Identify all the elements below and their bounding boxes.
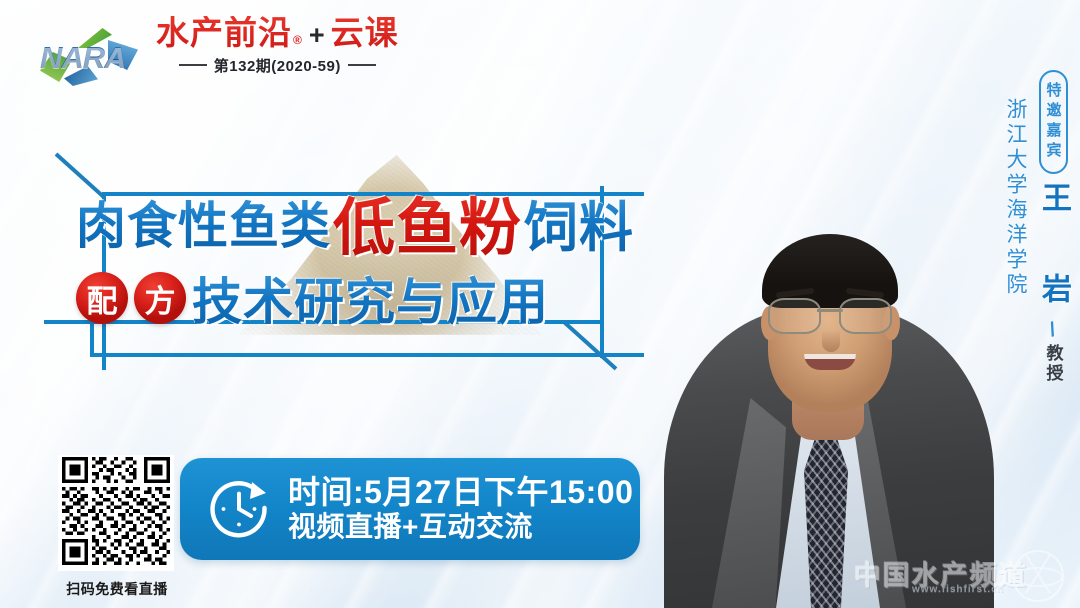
portrait-necktie <box>804 432 848 608</box>
series-title-plus: + <box>309 21 326 49</box>
guest-role: 教授 <box>1041 344 1066 384</box>
guest-name: 王 岩 <box>1031 182 1075 317</box>
headline-badge-2: 方 <box>134 272 186 324</box>
series-title-part2: 云课 <box>331 16 399 51</box>
glasses-lens-right <box>839 298 892 334</box>
headline-badge-1: 配 <box>76 272 128 324</box>
headline-part-1: 肉食性鱼类 <box>76 186 331 258</box>
frame-line-bottom-secondary <box>90 353 644 357</box>
series-title: 水产前沿 ® + 云课 <box>156 16 399 51</box>
clock-refresh-icon <box>206 476 272 542</box>
guest-info: 浙江大学海洋学院 特邀嘉宾 王 岩 / 教授 <box>1000 70 1072 384</box>
schedule-format: 视频直播+互动交流 <box>288 510 633 543</box>
globe-icon <box>1012 550 1064 602</box>
portrait-mouth <box>804 354 856 370</box>
registered-mark: ® <box>293 34 303 47</box>
headline-part-2-emphasis: 低鱼粉 <box>333 177 522 267</box>
headline-line2-text: 技术研究与应用 <box>192 262 549 334</box>
channel-watermark: 中国水产频道 www.fishfirst.cn <box>854 550 1066 600</box>
nara-logo: NARA <box>34 28 140 86</box>
series-title-part1: 水产前沿 <box>156 16 292 51</box>
series-title-block: 水产前沿 ® + 云课 第132期(2020-59) <box>156 16 399 76</box>
dash-right <box>348 64 376 66</box>
guest-affiliation: 浙江大学海洋学院 <box>1000 98 1030 298</box>
qr-caption: 扫码免费看直播 <box>58 579 176 599</box>
schedule-banner: 时间:5月27日下午15:00 视频直播+互动交流 <box>180 458 640 560</box>
globe-equator <box>1013 567 1063 587</box>
promo-poster: NARA 水产前沿 ® + 云课 第132期(2020-59) <box>0 0 1080 608</box>
qr-block: 扫码免费看直播 <box>58 455 176 599</box>
speaker-portrait <box>616 48 1036 608</box>
guest-separator: / <box>1048 319 1059 343</box>
guest-name-column: 特邀嘉宾 王 岩 / 教授 <box>1034 70 1072 384</box>
headline-block: 肉食性鱼类 低鱼粉 饲料 配 方 技术研究与应用 <box>76 186 636 330</box>
dash-left <box>179 64 207 66</box>
poster-header: NARA 水产前沿 ® + 云课 第132期(2020-59) <box>34 16 399 86</box>
headline-line-2: 配 方 技术研究与应用 <box>76 266 636 330</box>
glasses-lens-left <box>768 298 821 334</box>
issue-label: 第132期(2020-59) <box>156 55 399 76</box>
headline-line-1: 肉食性鱼类 低鱼粉 饲料 <box>76 186 636 258</box>
schedule-text: 时间:5月27日下午15:00 视频直播+互动交流 <box>288 475 633 544</box>
schedule-datetime: 时间:5月27日下午15:00 <box>288 475 633 511</box>
nara-logo-text: NARA <box>40 40 126 76</box>
watermark-url: www.fishfirst.cn <box>912 584 1005 595</box>
qr-code-icon[interactable] <box>58 455 174 571</box>
guest-badge: 特邀嘉宾 <box>1039 70 1068 174</box>
portrait-nose <box>822 330 840 352</box>
glasses-icon <box>766 298 894 332</box>
issue-text: 第132期(2020-59) <box>214 55 341 76</box>
